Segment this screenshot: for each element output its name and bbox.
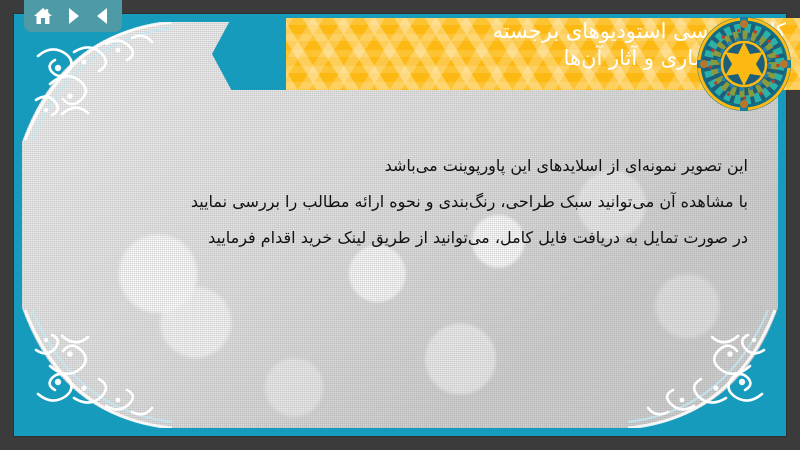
body-line-2: با مشاهده آن می‌توانید سبک طراحی، رنگ‌بن… (62, 184, 748, 220)
arabesque-corner-icon (22, 308, 172, 428)
persian-medallion-icon (696, 16, 792, 112)
body-line-1: این تصویر نمونه‌ای از اسلایدهای این پاور… (62, 148, 748, 184)
slide-viewer: این تصویر نمونه‌ای از اسلایدهای این پاور… (0, 0, 800, 450)
arabesque-corner-icon (22, 22, 172, 142)
navigation-bar (24, 0, 122, 32)
back-triangle-icon[interactable] (93, 6, 113, 26)
home-icon[interactable] (33, 6, 53, 26)
body-line-3: در صورت تمایل به دریافت فایل کامل، می‌تو… (62, 220, 748, 256)
slide-body: این تصویر نمونه‌ای از اسلایدهای این پاور… (62, 148, 748, 256)
arabesque-corner-icon (628, 308, 778, 428)
forward-triangle-icon[interactable] (63, 6, 83, 26)
